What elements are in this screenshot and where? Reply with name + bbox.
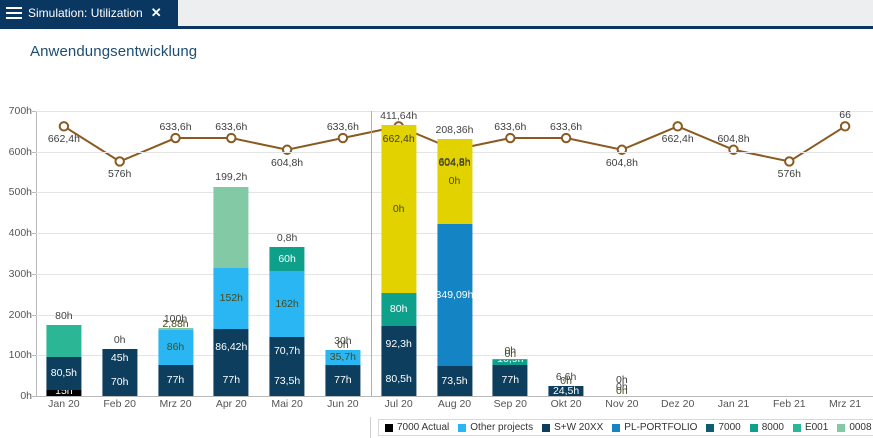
x-axis-label: Mrz 20 [159,398,191,410]
bar-total-label: 30h [334,335,352,347]
legend-label: E001 [805,422,828,433]
bar-segment-label: 35,7h [330,352,356,363]
bar-segment-label: 152h [220,293,243,304]
bar-segment[interactable]: 80,5h [46,357,81,390]
bar-segment-label: 73,5h [274,376,300,387]
legend-label: S+W 20XX [554,422,603,433]
bar-segment-label: 86,42h [215,342,247,353]
bar-segment-label: 77h [167,375,185,386]
bar-segment-label: 60h [278,254,296,265]
legend-swatch-icon [750,424,758,432]
legend-swatch-icon [837,424,845,432]
bar-segment[interactable]: 80h [381,293,416,326]
app-root: Simulation: Utilization ✕ Anwendungsentw… [0,0,873,409]
legend-item[interactable]: 7000 [706,422,740,433]
legend-label: Other projects [470,422,533,433]
x-axis-label: Feb 20 [103,398,136,410]
bar-segment[interactable]: 77h [214,365,249,396]
close-icon[interactable]: ✕ [151,5,162,21]
bar-total-label: 100h [164,313,187,325]
hamburger-icon[interactable] [6,7,22,19]
y-axis-tick-mark [32,315,36,316]
x-axis-label: Jan 21 [718,398,750,410]
line-point-label: 576h [778,168,801,180]
y-axis-tick-label: 300h [0,268,32,280]
x-axis-label: Mrz 21 [829,398,861,410]
line-point-label: 662,4h [383,133,415,145]
today-divider [371,111,372,396]
bar-segment[interactable]: 2,88h [158,328,193,329]
y-axis-tick-label: 0h [0,390,32,402]
bar-segment[interactable]: 35,7h [325,350,360,365]
legend-label: 7000 Actual [397,422,449,433]
bar-segment[interactable]: 92,3h [381,326,416,364]
bar-segment-label: 86h [167,342,185,353]
window-title-bar: Simulation: Utilization ✕ [0,0,873,26]
bar-segment[interactable]: 162h [270,271,305,337]
legend-label: PL-PORTFOLIO [624,422,697,433]
bar-segment[interactable] [46,325,81,357]
bar-segment[interactable]: 77h [325,365,360,396]
legend-divider [370,417,371,438]
bar-segment[interactable]: 86h [158,330,193,365]
x-axis-labels: Jan 20Feb 20Mrz 20Apr 20Mai 20Jun 20Jul … [36,398,873,414]
x-axis-label: Nov 20 [605,398,638,410]
legend-label: 0008 [849,422,871,433]
x-axis-label: Aug 20 [438,398,471,410]
bar-segment-label: 0h [393,204,405,215]
bar-segment-label: 0h [449,176,461,187]
bar-segment[interactable]: 0h [437,139,472,224]
line-point-label: 576h [108,168,131,180]
x-axis-label: Feb 21 [773,398,806,410]
legend-item[interactable]: 8000 [750,422,784,433]
bar-segment-label: 70,7h [274,346,300,357]
bar-segment-label: 80h [390,304,408,315]
bar-segment[interactable]: 0h [381,125,416,293]
bar-segment[interactable]: 70h [102,368,137,397]
legend-label: 7000 [718,422,740,433]
bar-total-label: 6,6h [556,371,576,383]
line-point-label: 604,8h [438,157,470,169]
x-axis-label: Okt 20 [551,398,582,410]
line-point-label: 662,4h [48,133,80,145]
bar-segment[interactable]: 73,5h [270,366,305,396]
line-point-label: 604,8h [606,157,638,169]
chart-legend: 7000 ActualOther projectsS+W 20XXPL-PORT… [378,419,873,436]
line-point-label: 66 [839,109,851,121]
y-axis-tick-mark [32,396,36,397]
bar-segment[interactable]: 80,5h [381,363,416,396]
x-axis-label: Jun 20 [327,398,359,410]
bar-segment[interactable]: 77h [493,365,528,396]
bar-segment-label: 24,5h [553,386,579,397]
bar-total-label: 199,2h [215,171,247,183]
y-axis-tick-label: 100h [0,349,32,361]
x-axis-label: Dez 20 [661,398,694,410]
legend-swatch-icon [612,424,620,432]
legend-item[interactable]: S+W 20XX [542,422,603,433]
bar-segment[interactable]: 15h [46,390,81,396]
x-axis-label: Jul 20 [385,398,413,410]
legend-item[interactable]: E001 [793,422,828,433]
page-title: Anwendungsentwicklung [30,43,197,60]
line-point-label: 662,4h [662,133,694,145]
plot-area: 0h100h200h300h400h500h600h700h15h80,5h80… [36,111,873,396]
chart-panel: Anwendungsentwicklung 0h100h200h300h400h… [0,29,873,409]
bar-segment-label: 77h [223,375,241,386]
x-axis-label: Apr 20 [216,398,247,410]
legend-item[interactable]: 0008 [837,422,871,433]
bar-segment[interactable]: 10,9h [493,360,528,364]
y-axis-tick-label: 400h [0,227,32,239]
bar-segment[interactable]: 349,09h [437,224,472,366]
y-axis-tick-mark [32,274,36,275]
bar-segment-label: 80,5h [51,368,77,379]
y-axis-tick-mark [32,111,36,112]
bar-segment-label: 77h [334,375,352,386]
bar-segment[interactable]: 45h [102,349,137,367]
bar-total-label: 0h [504,345,516,357]
bar-segment[interactable]: 77h [158,365,193,396]
y-axis-tick-mark [32,355,36,356]
legend-item[interactable]: 7000 Actual [385,422,449,433]
gridline [36,111,873,112]
legend-item[interactable]: Other projects [458,422,533,433]
bar-segment[interactable]: 24,5h [549,386,584,396]
bar-total-label: 0h [114,334,126,346]
bar-segment-label: 80,5h [386,374,412,385]
line-point-label: 604,8h [271,157,303,169]
y-axis-tick-label: 600h [0,146,32,158]
legend-swatch-icon [542,424,550,432]
line-point-label: 604,8h [717,133,749,145]
legend-swatch-icon [385,424,393,432]
y-axis-tick-mark [32,192,36,193]
bar-total-label: 0,8h [277,232,297,244]
bar-segment[interactable]: 152h [214,268,249,330]
bar-total-label: 208,36h [436,124,474,136]
x-axis-line [36,396,873,397]
bar-segment-label: 73,5h [441,376,467,387]
bar-segment-label: 92,3h [386,339,412,350]
bar-segment-label: 45h [111,353,129,364]
legend-swatch-icon [706,424,714,432]
line-point-label: 633,6h [215,121,247,133]
bar-segment-label: 77h [502,375,520,386]
bar-segment[interactable]: 73,5h [437,366,472,396]
bar-segment-label: 349,09h [436,290,474,301]
bar-segment-label: 162h [275,299,298,310]
bar-total-label: 411,64h [380,110,417,122]
y-axis-tick-label: 700h [0,105,32,117]
y-axis-tick-label: 500h [0,186,32,198]
x-axis-label: Jan 20 [48,398,80,410]
bar-segment[interactable]: 70,7h [270,337,305,366]
line-point-label: 633,6h [550,121,582,133]
bar-segment[interactable] [214,187,249,268]
tab-simulation-utilization[interactable]: Simulation: Utilization ✕ [0,0,178,26]
y-axis-tick-mark [32,152,36,153]
legend-label: 8000 [762,422,784,433]
bar-segment[interactable]: 60h [270,247,305,271]
bar-segment[interactable]: 86,42h [214,329,249,364]
x-axis-label: Sep 20 [494,398,527,410]
legend-swatch-icon [458,424,466,432]
tab-title: Simulation: Utilization [28,6,143,20]
y-axis-tick-mark [32,233,36,234]
bar-segment-label: 70h [111,377,129,388]
legend-item[interactable]: PL-PORTFOLIO [612,422,697,433]
y-axis-tick-label: 200h [0,309,32,321]
annotation-label: 0h [616,374,628,386]
line-point-label: 633,6h [494,121,526,133]
bar-total-label: 80h [55,310,73,322]
line-point-label: 633,6h [159,121,191,133]
legend-swatch-icon [793,424,801,432]
line-point-label: 633,6h [327,121,359,133]
x-axis-label: Mai 20 [271,398,303,410]
